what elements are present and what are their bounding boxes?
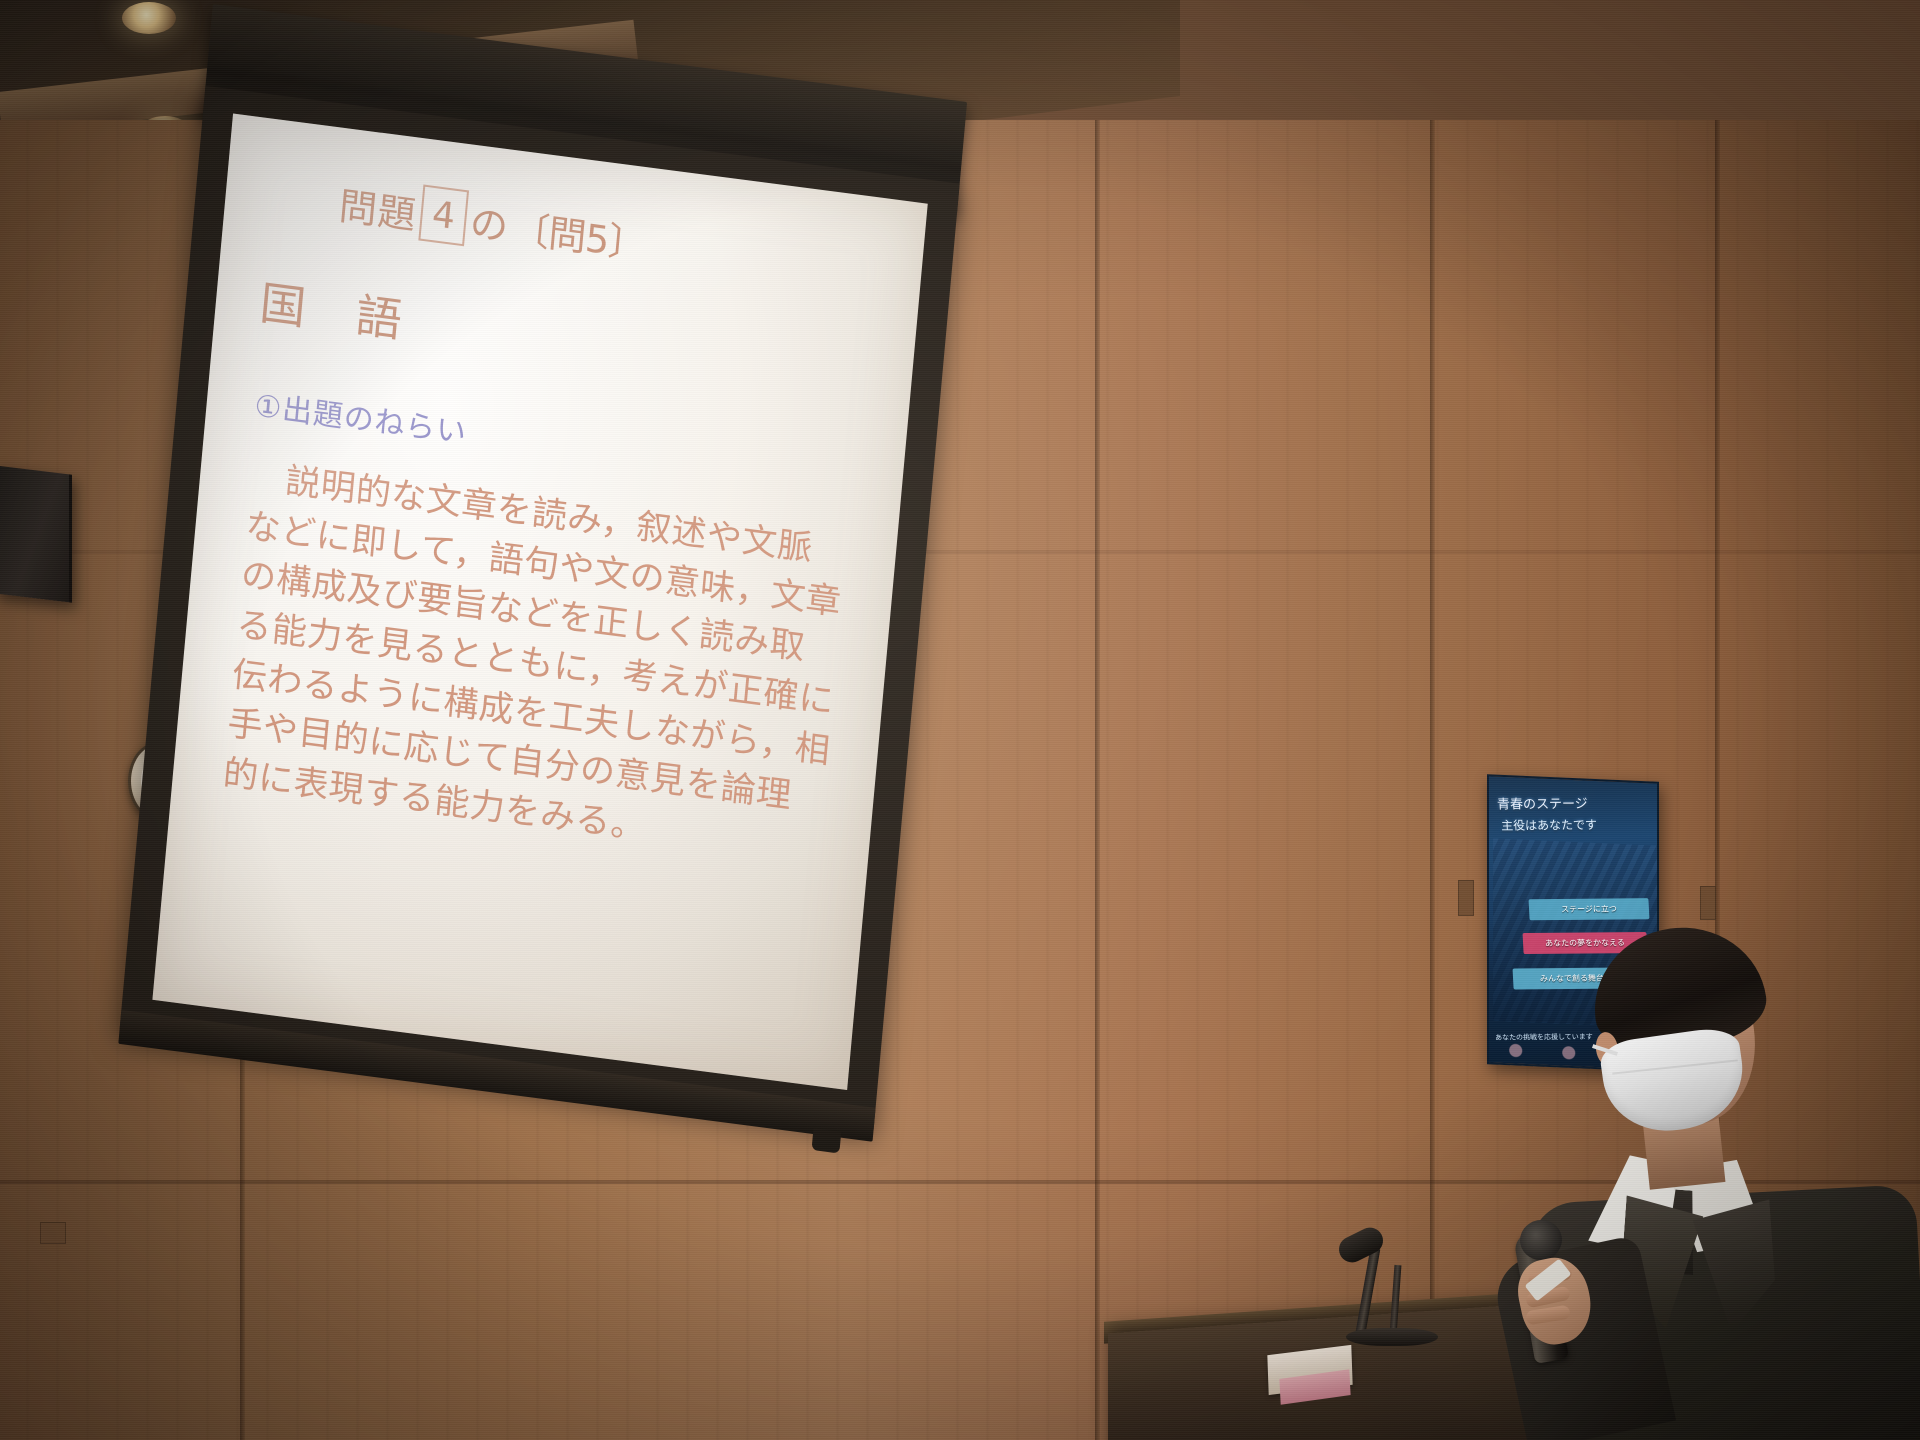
poster-right-title: 青春のステージ xyxy=(1497,793,1650,814)
slide-question-line: 問題 4 の 〔問5〕 xyxy=(337,174,884,300)
projection-screen-assembly: 問題 4 の 〔問5〕 国 語 ①出題のねらい 説明的な文章を読み，叙述や文脈 … xyxy=(116,14,966,1168)
slide-body-text: 説明的な文章を読み，叙述や文脈 などに即して，語句や文の意味，文章 の構成及び要… xyxy=(221,453,858,878)
poster-right-chip: ステージに立つ xyxy=(1529,898,1650,920)
slide-subject-title: 国 語 xyxy=(257,267,874,412)
wall-plate xyxy=(1458,880,1474,916)
projected-slide-surface: 問題 4 の 〔問5〕 国 語 ①出題のねらい 説明的な文章を読み，叙述や文脈 … xyxy=(152,113,927,1090)
speaker-person xyxy=(1500,940,1920,1440)
slide-question-number-box: 4 xyxy=(418,185,469,247)
face-mask-icon xyxy=(1598,1025,1750,1140)
wall-plate xyxy=(1700,886,1716,920)
slide-content: 問題 4 の 〔問5〕 国 語 ①出題のねらい 説明的な文章を読み，叙述や文脈 … xyxy=(152,113,927,1090)
poster-right-subtitle: 主役はあなたです xyxy=(1501,815,1652,833)
slide-question-of: の xyxy=(468,191,511,251)
wall-speaker-box xyxy=(0,465,72,603)
wall-plate xyxy=(40,1222,66,1244)
slide-question-label: 問題 xyxy=(337,174,419,239)
mic-stand-base xyxy=(1346,1328,1438,1346)
downlight-icon xyxy=(122,2,176,34)
slide-subquestion: 〔問5〕 xyxy=(510,197,648,269)
presentation-hall-photo: SEIKO 青春のステージ 主役はあなたです ステージに立つ あなたの夢をかなえ… xyxy=(0,0,1920,1440)
screen-pull-knob xyxy=(812,1128,842,1154)
